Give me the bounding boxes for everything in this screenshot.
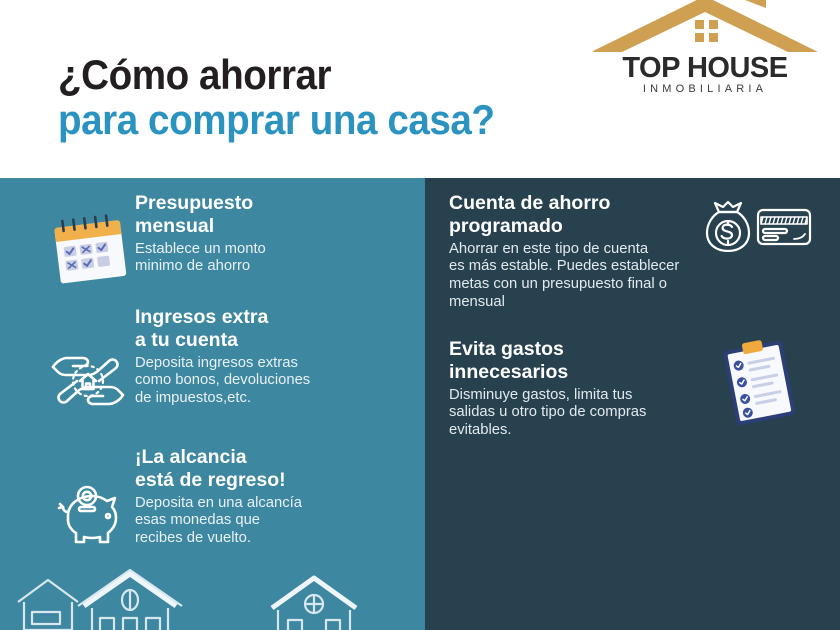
- right-panel: Cuenta de ahorro programado Ahorrar en e…: [425, 178, 840, 630]
- title-line-1: ¿Cómo ahorrar: [58, 54, 573, 97]
- tip-body: Ahorrar en este tipo de cuenta es más es…: [449, 241, 739, 312]
- tip-body: Deposita ingresos extras como bonos, dev…: [135, 355, 420, 408]
- header: ¿Cómo ahorrar para comprar una casa? TOP…: [0, 0, 840, 178]
- tip-body: Disminuye gastos, limita tus salidas u o…: [449, 387, 734, 440]
- tip-body: Establece un monto minimo de ahorro: [135, 241, 415, 277]
- tip-item-ingresos-extra: Ingresos extra a tu cuenta Deposita ingr…: [0, 306, 425, 431]
- tip-item-evita-gastos: Evita gastos innecesarios Disminuye gast…: [425, 338, 840, 478]
- tip-heading: Cuenta de ahorro programado: [449, 192, 739, 238]
- logo-tagline: INMOBILIARIA: [590, 84, 820, 95]
- calendar-icon: [44, 206, 134, 292]
- logo-name: TOP HOUSE: [590, 54, 820, 83]
- house-roof-logo-icon: [590, 0, 820, 54]
- tip-heading: Evita gastos innecesarios: [449, 338, 734, 384]
- page-title: ¿Cómo ahorrar para comprar una casa?: [58, 54, 618, 142]
- tip-item-cuenta-de-ahorro: Cuenta de ahorro programado Ahorrar en e…: [425, 192, 840, 342]
- title-line-2: para comprar una casa?: [58, 99, 573, 142]
- tip-text: Cuenta de ahorro programado Ahorrar en e…: [449, 192, 739, 312]
- tip-text: Ingresos extra a tu cuenta Deposita ingr…: [135, 306, 420, 408]
- tip-heading: Presupuesto mensual: [135, 192, 415, 238]
- tip-heading: Ingresos extra a tu cuenta: [135, 306, 420, 352]
- tip-text: Evita gastos innecesarios Disminuye gast…: [449, 338, 734, 440]
- tip-heading: ¡La alcancia está de regreso!: [135, 446, 420, 492]
- brand-logo: TOP HOUSE INMOBILIARIA: [590, 0, 820, 114]
- piggy-bank-icon: [46, 474, 132, 560]
- tip-text: ¡La alcancia está de regreso! Deposita e…: [135, 446, 420, 548]
- hands-holding-house-icon: [47, 340, 129, 422]
- infographic-poster: ¿Cómo ahorrar para comprar una casa? TOP…: [0, 0, 840, 630]
- tip-text: Presupuesto mensual Establece un monto m…: [135, 192, 415, 276]
- tip-item-alcancia: ¡La alcancia está de regreso! Deposita e…: [0, 446, 425, 581]
- tip-item-presupuesto-mensual: Presupuesto mensual Establece un monto m…: [0, 192, 425, 302]
- tip-body: Deposita en una alcancía esas monedas qu…: [135, 495, 420, 548]
- left-panel: Presupuesto mensual Establece un monto m…: [0, 178, 425, 630]
